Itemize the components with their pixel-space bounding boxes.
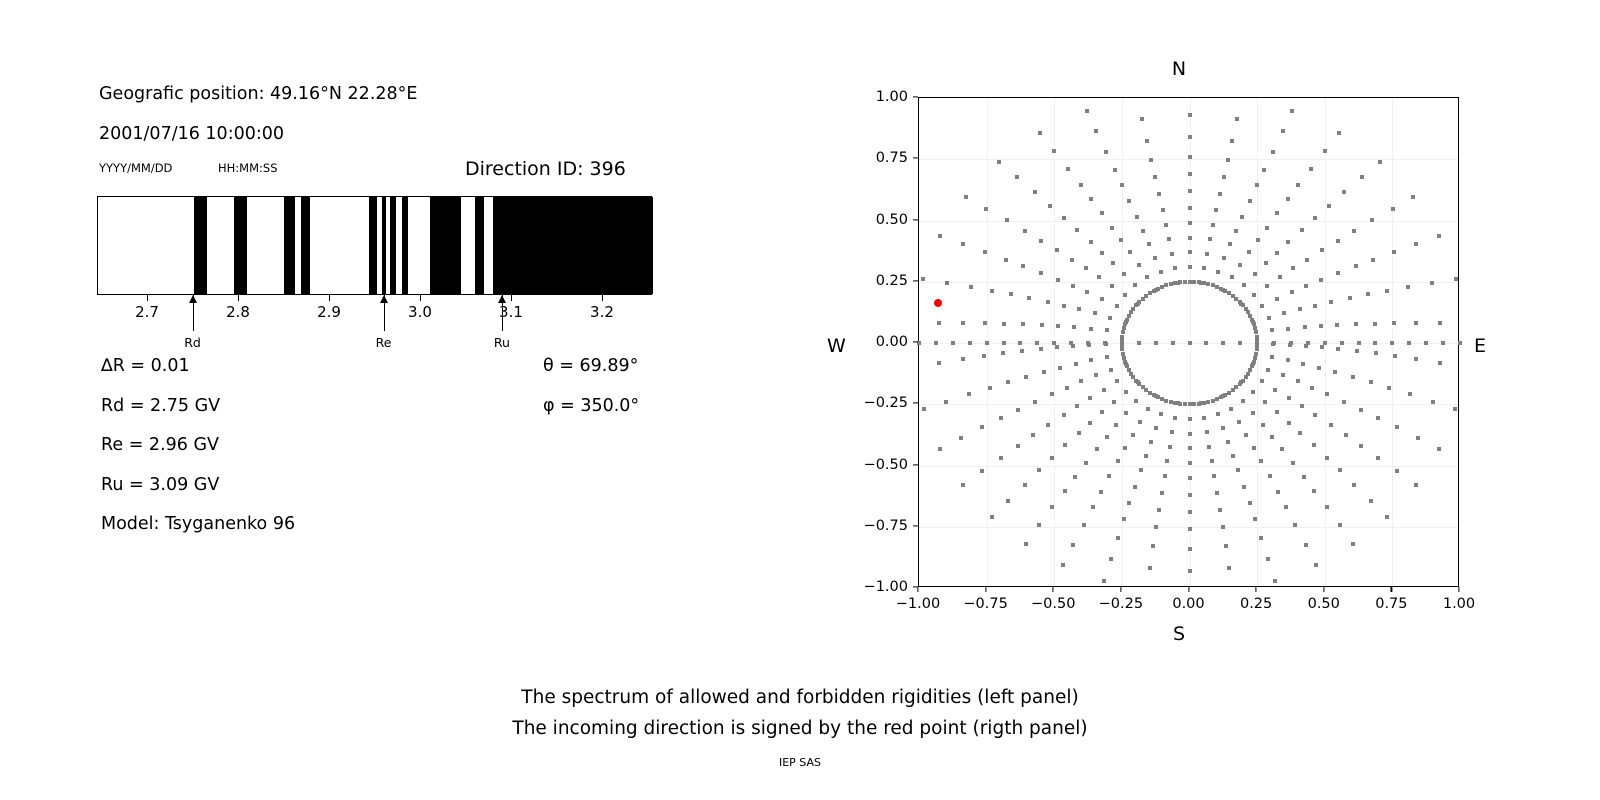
x-axis-tick-label: 0.75 <box>1375 596 1407 612</box>
direction-point <box>1238 341 1242 345</box>
direction-point <box>1188 461 1192 465</box>
direction-point <box>1248 501 1252 505</box>
direction-point <box>1338 523 1342 527</box>
rigidity-axis-tick-label: 2.9 <box>317 303 341 321</box>
direction-point <box>1197 280 1201 284</box>
direction-point <box>1275 211 1279 215</box>
direction-point <box>1369 380 1373 384</box>
parameter-left-1: Rd = 2.75 GV <box>101 396 220 416</box>
rigidity-axis-tick-label: 2.8 <box>226 303 250 321</box>
direction-point <box>1052 341 1056 345</box>
direction-point <box>1075 404 1079 408</box>
caption-line-1: The spectrum of allowed and forbidden ri… <box>521 687 1078 708</box>
direction-point <box>1329 423 1333 427</box>
direction-point <box>1221 341 1225 345</box>
direction-point <box>1100 251 1104 255</box>
direction-point <box>1226 158 1230 162</box>
direction-point <box>1188 221 1192 225</box>
direction-point <box>937 361 941 365</box>
direction-point <box>1131 307 1135 311</box>
compass-label-north: N <box>1172 58 1186 80</box>
direction-point <box>1391 207 1395 211</box>
direction-point <box>1134 379 1138 383</box>
direction-point <box>1159 412 1163 416</box>
direction-point <box>1188 402 1192 406</box>
direction-point <box>1153 175 1157 179</box>
parameter-right-0: θ = 69.89° <box>543 356 638 376</box>
x-axis-tick <box>1458 587 1459 592</box>
direction-point <box>1373 341 1377 345</box>
direction-point <box>1037 523 1041 527</box>
direction-point <box>1205 252 1209 256</box>
direction-point <box>1021 322 1025 326</box>
direction-point <box>1406 285 1410 289</box>
direction-point <box>1055 345 1059 349</box>
direction-point <box>1033 400 1037 404</box>
direction-point <box>1247 250 1251 254</box>
direction-point <box>1227 566 1231 570</box>
direction-point <box>1058 366 1062 370</box>
direction-point <box>1100 410 1104 414</box>
direction-point <box>1004 258 1008 262</box>
direction-point <box>1009 292 1013 296</box>
direction-point <box>961 242 965 246</box>
direction-point <box>1241 399 1245 403</box>
direction-point <box>1300 228 1304 232</box>
direction-point <box>1063 443 1067 447</box>
direction-point <box>1259 459 1263 463</box>
direction-point <box>1123 322 1127 326</box>
direction-point <box>1131 433 1135 437</box>
direction-point <box>1336 347 1340 351</box>
y-axis-tick <box>913 525 918 526</box>
parameter-left-3: Ru = 3.09 GV <box>101 475 219 495</box>
y-axis-tick-label: 0.75 <box>846 150 908 166</box>
direction-point <box>1320 345 1324 349</box>
direction-point <box>1354 264 1358 268</box>
direction-point <box>1110 226 1114 230</box>
direction-point <box>1102 388 1106 392</box>
direction-point <box>1408 392 1412 396</box>
direction-point <box>1236 468 1240 472</box>
direction-point <box>1291 266 1295 270</box>
direction-point <box>1120 183 1124 187</box>
forbidden-band <box>390 197 396 294</box>
direction-point <box>1056 278 1060 282</box>
direction-point <box>1352 229 1356 233</box>
direction-point <box>983 250 987 254</box>
x-axis-tick <box>1323 587 1324 592</box>
direction-point <box>1188 341 1192 345</box>
direction-point <box>1188 547 1192 551</box>
direction-point <box>1127 368 1131 372</box>
direction-point <box>1319 278 1323 282</box>
direction-point <box>1133 485 1137 489</box>
direction-point <box>1168 445 1172 449</box>
direction-point <box>1312 443 1316 447</box>
direction-point <box>1016 408 1020 412</box>
direction-point <box>1272 341 1276 345</box>
direction-point <box>1267 316 1271 320</box>
direction-point <box>1336 239 1340 243</box>
direction-point <box>997 160 1001 164</box>
direction-point <box>1192 402 1196 406</box>
direction-point <box>1069 341 1073 345</box>
direction-point <box>1188 432 1192 436</box>
direction-point <box>1224 544 1228 548</box>
direction-point <box>1281 373 1285 377</box>
direction-point <box>1178 402 1182 406</box>
direction-point <box>1107 474 1111 478</box>
direction-point <box>1395 425 1399 429</box>
direction-point <box>1253 517 1257 521</box>
rigidity-marker-head-re <box>380 295 388 303</box>
forbidden-band <box>234 197 247 294</box>
forbidden-band <box>194 197 208 294</box>
direction-point <box>980 425 984 429</box>
direction-point <box>1134 399 1138 403</box>
direction-point <box>1005 218 1009 222</box>
direction-point <box>1048 204 1052 208</box>
x-axis-tick-label: 0.50 <box>1308 596 1340 612</box>
direction-point <box>1164 399 1168 403</box>
direction-point <box>1323 149 1327 153</box>
caption-line-2: The incoming direction is signed by the … <box>512 718 1087 739</box>
direction-point <box>1055 248 1059 252</box>
time-format-hint: HH:MM:SS <box>218 161 278 175</box>
direction-point <box>1112 400 1116 404</box>
direction-point <box>1188 510 1192 514</box>
direction-point <box>934 341 938 345</box>
direction-point <box>1313 304 1317 308</box>
direction-point <box>1188 206 1192 210</box>
direction-point <box>1351 542 1355 546</box>
direction-point <box>1357 341 1361 345</box>
direction-point <box>1018 341 1022 345</box>
direction-point <box>1183 280 1187 284</box>
direction-point <box>985 341 989 345</box>
x-axis-tick <box>985 587 986 592</box>
direction-point <box>1122 356 1126 360</box>
direction-point <box>921 277 925 281</box>
direction-point <box>1291 461 1295 465</box>
direction-point <box>1219 395 1223 399</box>
direction-point <box>1230 275 1234 279</box>
direction-point <box>1135 215 1139 219</box>
y-axis-tick-label: −0.50 <box>846 457 908 473</box>
direction-point <box>1163 474 1167 478</box>
direction-point <box>1223 393 1227 397</box>
direction-point <box>1039 239 1043 243</box>
direction-point <box>1298 307 1302 311</box>
direction-point <box>1070 258 1074 262</box>
direction-point <box>1310 386 1314 390</box>
x-axis-tick-label: −0.25 <box>1099 596 1143 612</box>
direction-point <box>1131 375 1135 379</box>
direction-point <box>1270 435 1274 439</box>
direction-point <box>1079 379 1083 383</box>
direction-point <box>1151 544 1155 548</box>
y-axis-tick <box>913 403 918 404</box>
direction-point <box>945 281 949 285</box>
direction-point <box>1123 293 1127 297</box>
rigidity-axis-tick-label: 3.2 <box>590 303 614 321</box>
direction-point <box>1287 396 1291 400</box>
direction-point <box>1319 324 1323 328</box>
direction-point <box>1160 397 1164 401</box>
direction-point <box>1121 330 1125 334</box>
direction-point <box>1050 392 1054 396</box>
direction-point <box>961 321 965 325</box>
footer-credit: IEP SAS <box>779 756 821 769</box>
direction-point <box>1335 323 1339 327</box>
forbidden-band <box>382 197 387 294</box>
direction-point <box>1170 252 1174 256</box>
direction-point <box>1411 195 1415 199</box>
direction-point <box>1039 271 1043 275</box>
direction-point <box>1062 216 1066 220</box>
direction-point <box>1072 325 1076 329</box>
direction-point <box>1157 192 1161 196</box>
direction-point <box>1371 258 1375 262</box>
direction-point <box>1414 483 1418 487</box>
forbidden-band <box>430 197 461 294</box>
direction-point <box>1266 557 1270 561</box>
direction-point <box>1298 431 1302 435</box>
y-axis-tick <box>913 219 918 220</box>
direction-point <box>1359 408 1363 412</box>
direction-point <box>1159 270 1163 274</box>
direction-point <box>944 400 948 404</box>
direction-point <box>1115 379 1119 383</box>
rigidity-marker-label-re: Re <box>376 335 392 350</box>
direction-point <box>1108 316 1112 320</box>
direction-point <box>1390 341 1394 345</box>
direction-point <box>1148 566 1152 570</box>
direction-point <box>1454 277 1458 281</box>
direction-point <box>1369 499 1373 503</box>
direction-point <box>1336 271 1340 275</box>
direction-point <box>1276 490 1280 494</box>
direction-point <box>1306 341 1310 345</box>
direction-point <box>1110 284 1114 288</box>
rigidity-marker-head-ru <box>498 295 506 303</box>
direction-point <box>1296 183 1300 187</box>
direction-point <box>1333 370 1337 374</box>
direction-point <box>1188 155 1192 159</box>
y-axis-tick <box>913 96 918 97</box>
direction-point <box>1188 527 1192 531</box>
direction-point <box>1352 483 1356 487</box>
direction-point <box>1231 388 1235 392</box>
direction-point <box>1208 237 1212 241</box>
direction-point <box>1441 341 1445 345</box>
direction-point <box>1095 447 1099 451</box>
direction-point <box>1188 113 1192 117</box>
direction-point <box>1089 358 1093 362</box>
direction-point <box>1304 543 1308 547</box>
direction-point <box>1275 410 1279 414</box>
direction-point <box>1111 261 1115 265</box>
direction-point <box>980 469 984 473</box>
direction-point <box>1215 397 1219 401</box>
direction-point <box>1289 341 1293 345</box>
direction-point <box>1188 135 1192 139</box>
direction-point <box>1284 505 1288 509</box>
direction-point <box>1338 468 1342 472</box>
rigidity-axis-tick <box>147 295 148 301</box>
direction-point <box>1268 474 1272 478</box>
direction-point <box>1252 446 1256 450</box>
direction-point <box>1290 109 1294 113</box>
direction-point <box>1116 459 1120 463</box>
direction-point <box>1140 117 1144 121</box>
rigidity-axis-tick-label: 3.0 <box>408 303 432 321</box>
direction-point <box>1325 392 1329 396</box>
direction-point <box>1378 160 1382 164</box>
direction-point <box>1037 468 1041 472</box>
direction-point <box>1146 407 1150 411</box>
y-axis-tick-label: −1.00 <box>846 579 908 595</box>
direction-point <box>1188 250 1192 254</box>
direction-point <box>1264 261 1268 265</box>
direction-point <box>1351 375 1355 379</box>
direction-point <box>1248 199 1252 203</box>
forbidden-band <box>284 197 296 294</box>
direction-point <box>1089 327 1093 331</box>
direction-point <box>1147 242 1151 246</box>
direction-point <box>1075 228 1079 232</box>
y-axis-tick <box>913 341 918 342</box>
direction-point <box>1128 250 1132 254</box>
direction-point <box>1221 525 1225 529</box>
x-axis-tick-label: −0.75 <box>963 596 1007 612</box>
direction-point <box>1145 139 1149 143</box>
direction-point <box>964 195 968 199</box>
direction-point <box>1226 440 1230 444</box>
direction-point <box>988 386 992 390</box>
direction-point <box>1033 190 1037 194</box>
direction-point <box>1373 322 1377 326</box>
direction-point <box>983 321 987 325</box>
direction-point <box>1046 300 1050 304</box>
direction-point <box>1211 399 1215 403</box>
direction-point <box>1242 485 1246 489</box>
direction-point <box>1077 431 1081 435</box>
direction-point <box>1173 266 1177 270</box>
direction-point <box>1138 420 1142 424</box>
direction-point <box>1387 386 1391 390</box>
direction-point <box>1237 420 1241 424</box>
direction-point <box>1293 523 1297 527</box>
direction-point <box>1062 413 1066 417</box>
direction-point <box>1161 208 1165 212</box>
selected-direction-point[interactable] <box>934 299 942 307</box>
direction-point <box>1235 117 1239 121</box>
geographic-position-label: Geografic position: 49.16°N 22.28°E <box>99 84 417 104</box>
direction-point <box>1234 229 1238 233</box>
direction-point <box>1430 281 1434 285</box>
rigidity-axis-tick-label: 2.7 <box>135 303 159 321</box>
y-axis-tick-label: 0.50 <box>846 212 908 228</box>
direction-point <box>1042 370 1046 374</box>
direction-point <box>1416 436 1420 440</box>
direction-point <box>1056 324 1060 328</box>
direction-point <box>1218 508 1222 512</box>
direction-point <box>1120 335 1124 339</box>
forbidden-band <box>493 197 653 294</box>
direction-point <box>1154 341 1158 345</box>
parameter-right-1: φ = 350.0° <box>543 396 639 416</box>
direction-point <box>1253 272 1257 276</box>
direction-point <box>1091 505 1095 509</box>
direction-point <box>1164 283 1168 287</box>
direction-point <box>1125 318 1129 322</box>
x-axis-tick-label: −1.00 <box>896 596 940 612</box>
direction-point <box>1376 456 1380 460</box>
direction-point <box>1165 459 1169 463</box>
direction-point <box>1286 240 1290 244</box>
direction-point <box>1376 416 1380 420</box>
direction-point <box>1216 270 1220 274</box>
direction-point <box>1122 326 1126 330</box>
direction-point <box>937 321 941 325</box>
direction-point <box>1265 284 1269 288</box>
direction-point <box>1227 391 1231 395</box>
direction-point <box>1374 351 1378 355</box>
direction-point <box>1211 223 1215 227</box>
direction-point <box>1188 493 1192 497</box>
direction-point <box>1127 199 1131 203</box>
direction-point <box>1354 322 1358 326</box>
direction-point <box>1137 341 1141 345</box>
direction-point <box>1062 304 1066 308</box>
direction-point <box>1312 489 1316 493</box>
direction-point <box>1015 175 1019 179</box>
y-axis-tick-label: 0.00 <box>846 334 908 350</box>
direction-point <box>1097 275 1101 279</box>
direction-point <box>1002 341 1006 345</box>
direction-point <box>1300 404 1304 408</box>
direction-point <box>990 515 994 519</box>
direction-point <box>1366 292 1370 296</box>
direction-point <box>1169 400 1173 404</box>
direction-point <box>951 341 955 345</box>
direction-point <box>1337 131 1341 135</box>
direction-point <box>990 289 994 293</box>
direction-point <box>1271 150 1275 154</box>
direction-point <box>967 392 971 396</box>
direction-point <box>1360 175 1364 179</box>
direction-point <box>1256 238 1260 242</box>
direction-point <box>1094 129 1098 133</box>
direction-point <box>1392 321 1396 325</box>
direction-point <box>1424 341 1428 345</box>
direction-point <box>1251 411 1255 415</box>
direction-point <box>1114 423 1118 427</box>
direction-point <box>1006 499 1010 503</box>
rigidity-axis-tick <box>329 295 330 301</box>
direction-point <box>961 357 965 361</box>
direction-point <box>1074 362 1078 366</box>
rigidity-spectrum-axis: 2.72.82.93.03.13.2RdReRu <box>97 295 652 296</box>
direction-point <box>1023 229 1027 233</box>
direction-point <box>1148 391 1152 395</box>
direction-point <box>1309 167 1313 171</box>
direction-point <box>1286 327 1290 331</box>
rigidity-axis-tick <box>511 295 512 301</box>
direction-point <box>1121 352 1125 356</box>
